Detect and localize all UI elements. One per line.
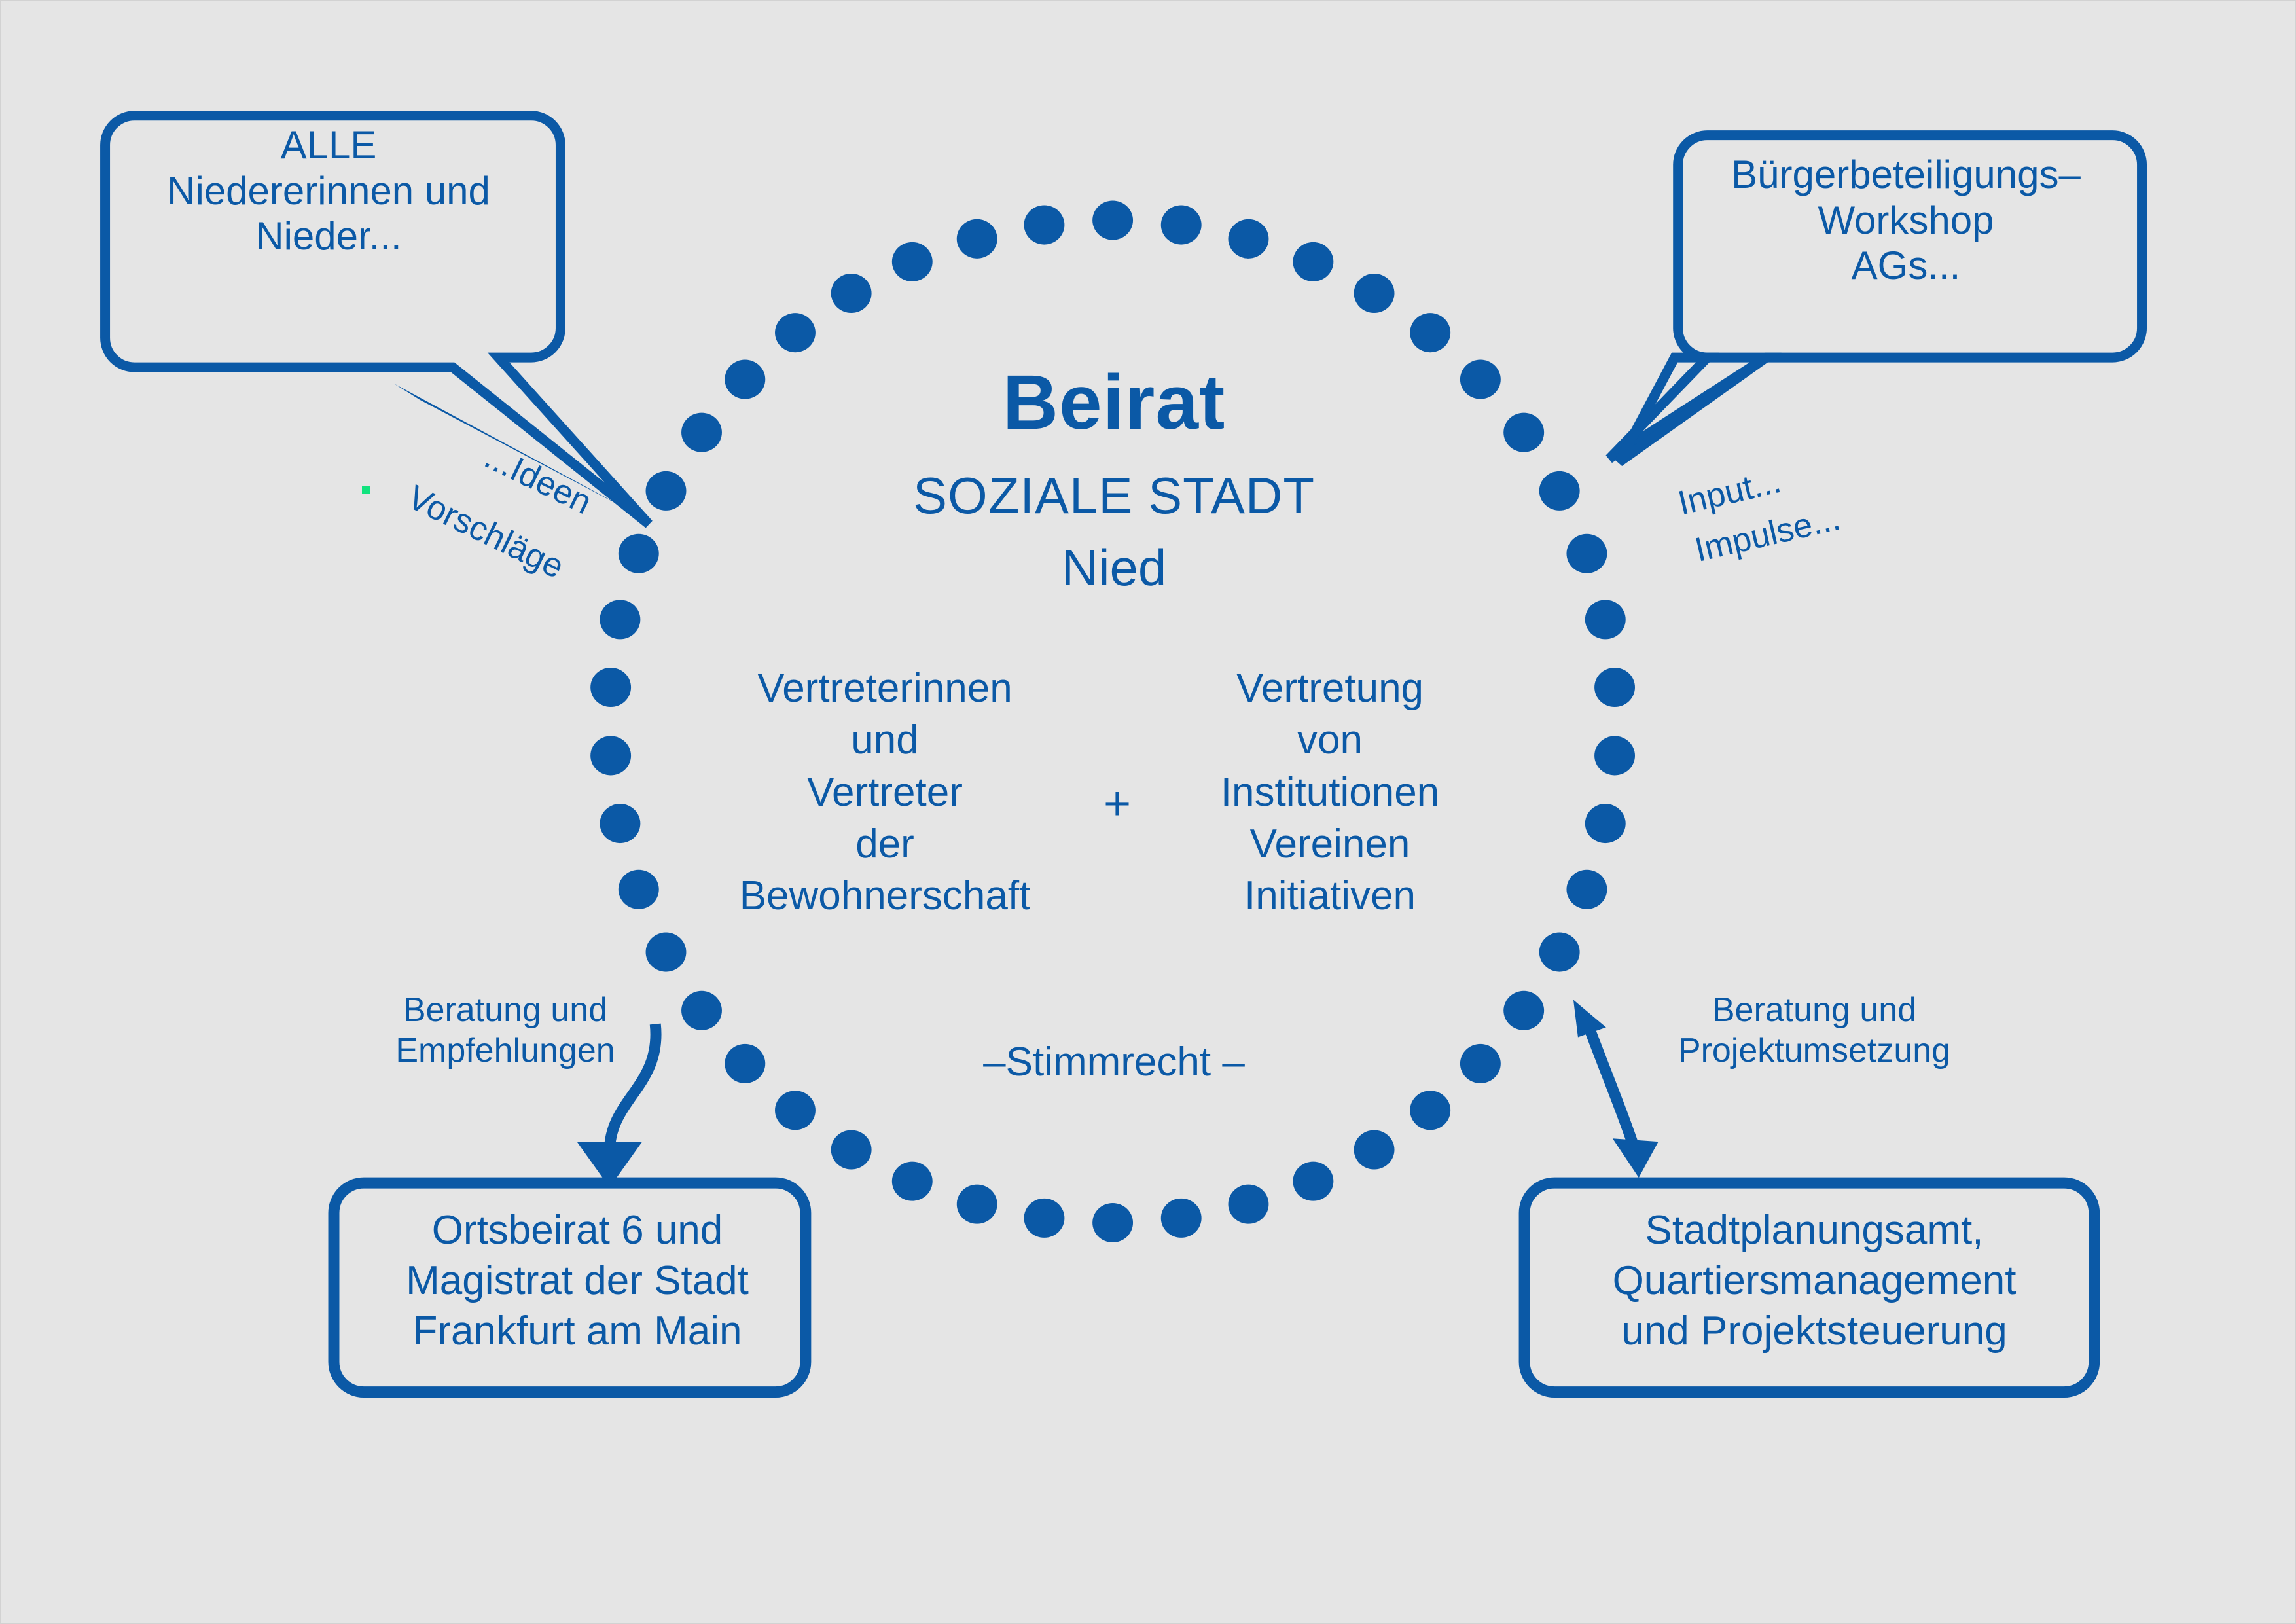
circle-dot	[1460, 360, 1501, 399]
subtitle-nied: Nied	[787, 538, 1441, 597]
circle-dot	[1594, 736, 1635, 775]
circle-dot	[1460, 1044, 1501, 1083]
circle-dot	[892, 1162, 933, 1201]
speech-bubble-top-left-text: ALLENiedererinnen undNieder...	[99, 122, 558, 259]
circle-dot	[619, 534, 659, 573]
circle-dot	[681, 413, 722, 452]
circle-dot	[590, 736, 631, 775]
circle-dot	[1024, 1199, 1065, 1238]
circle-dot	[1503, 413, 1544, 452]
circle-dot	[1594, 668, 1635, 707]
circle-dot	[646, 471, 687, 511]
box-stadtplanungsamt-text: Stadtplanungsamt,Quartiersmanagementund …	[1533, 1206, 2096, 1357]
circle-dot	[957, 219, 997, 259]
circle-dot	[600, 804, 640, 843]
circle-dot	[725, 360, 765, 399]
circle-dot	[1161, 206, 1202, 245]
circle-dot	[1161, 1199, 1202, 1238]
circle-dot	[619, 870, 659, 909]
circle-dot	[1410, 1091, 1450, 1130]
circle-dot	[1024, 206, 1065, 245]
plus-sign: +	[1088, 777, 1147, 832]
circle-dot	[681, 991, 722, 1030]
circle-dot	[1293, 1162, 1333, 1201]
subtitle-soziale-stadt: SOZIALE STADT	[787, 466, 1441, 525]
page-title: Beirat	[787, 358, 1441, 448]
circle-dot	[725, 1044, 765, 1083]
center-right-column: VertretungvonInstitutionenVereinenInitia…	[1147, 662, 1513, 922]
circle-dot	[892, 242, 933, 281]
diagram-canvas: ALLENiedererinnen undNieder... Bürgerbet…	[0, 0, 2296, 1624]
label-beratung-projektumsetzung: Beratung undProjektumsetzung	[1651, 990, 1978, 1072]
circle-dot	[1092, 1203, 1133, 1242]
circle-dot	[775, 1091, 816, 1130]
circle-dot	[1092, 200, 1133, 240]
circle-dot	[1229, 1185, 1269, 1224]
label-beratung-empfehlungen: Beratung undEmpfehlungen	[371, 990, 639, 1072]
box-ortsbeirat-text: Ortsbeirat 6 undMagistrat der StadtFrank…	[342, 1206, 813, 1357]
circle-dot	[1566, 534, 1607, 573]
circle-dot	[1354, 274, 1395, 313]
speech-bubble-top-right-text: Bürgerbeteiligungs–WorkshopAGs...	[1677, 152, 2135, 289]
circle-dot	[831, 274, 872, 313]
circle-dot	[1229, 219, 1269, 259]
circle-dot	[775, 313, 816, 352]
circle-dot	[1539, 471, 1580, 511]
center-left-column: VertreterinnenundVertreterderBewohnersch…	[682, 662, 1088, 922]
circle-dot	[1293, 242, 1333, 281]
circle-dot	[1566, 870, 1607, 909]
circle-dot	[646, 933, 687, 972]
circle-dot	[1410, 313, 1450, 352]
circle-dot	[1585, 600, 1626, 639]
circle-dot	[1503, 991, 1544, 1030]
stimmrecht-note: –Stimmrecht –	[918, 1039, 1310, 1086]
circle-dot	[600, 600, 640, 639]
circle-dot	[590, 668, 631, 707]
circle-dot	[1539, 933, 1580, 972]
circle-dot	[1354, 1130, 1395, 1169]
circle-dot	[1585, 804, 1626, 843]
curved-double-arrow-icon	[1573, 1000, 1659, 1178]
circle-dot	[831, 1130, 872, 1169]
green-square-marker-icon	[362, 486, 370, 494]
circle-dot	[957, 1185, 997, 1224]
